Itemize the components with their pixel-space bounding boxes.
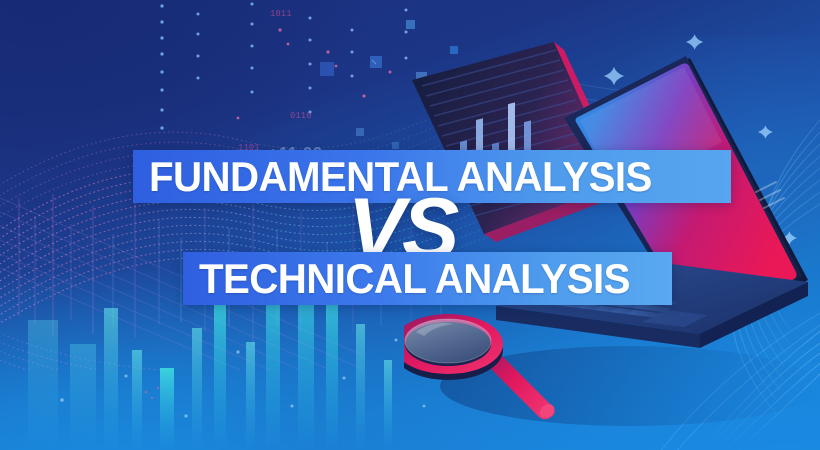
title-block: FUNDAMENTAL ANALYSIS VS TECHNICAL ANALYS…	[0, 0, 820, 450]
banner-root: 1011 0110 1101 +11.00	[0, 0, 820, 450]
title-band-fundamental: FUNDAMENTAL ANALYSIS	[133, 150, 731, 203]
title-band-technical: TECHNICAL ANALYSIS	[183, 252, 672, 305]
title-line-2: TECHNICAL ANALYSIS	[199, 258, 630, 300]
title-line-1: FUNDAMENTAL ANALYSIS	[149, 156, 652, 198]
